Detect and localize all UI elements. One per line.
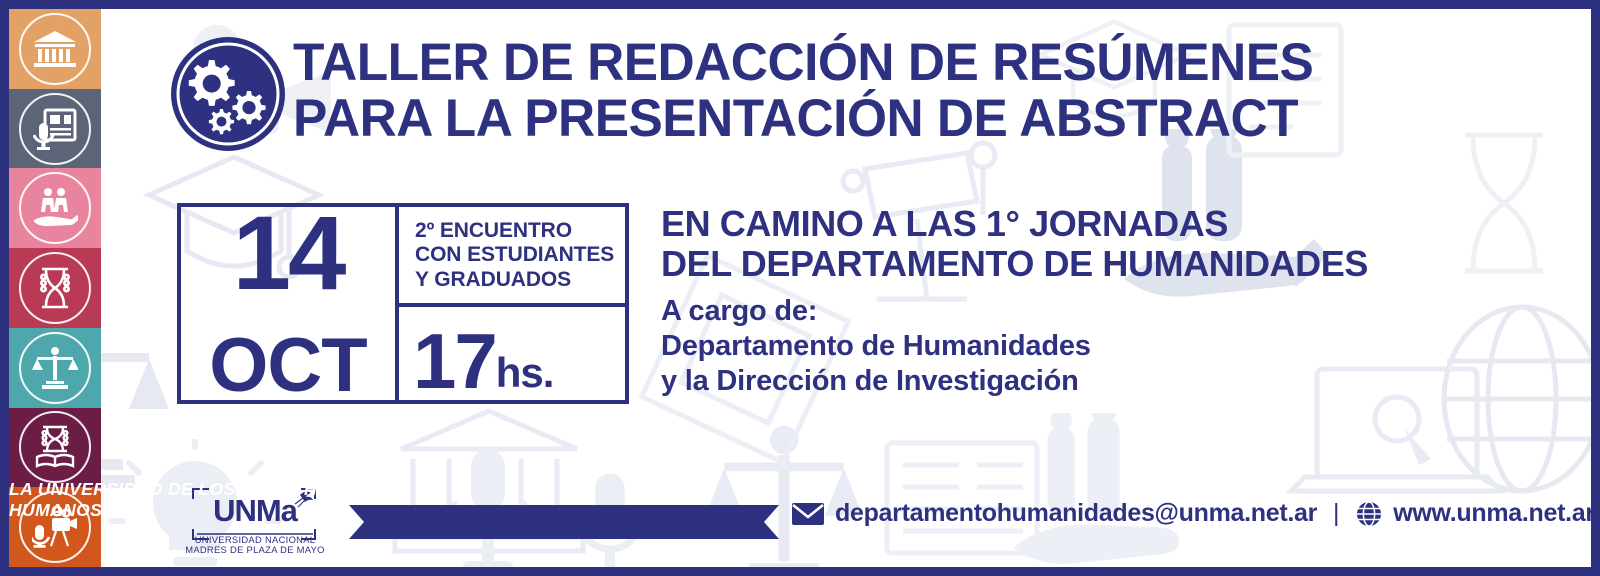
globe-icon <box>1355 500 1383 528</box>
rail-ring <box>19 252 91 324</box>
event-time-unit: hs. <box>496 352 554 398</box>
date-details: 2º ENCUENTRO CON ESTUDIANTES Y GRADUADOS… <box>399 207 625 400</box>
gears-logo <box>169 35 287 153</box>
footer-bar: UNMa UNIVERSIDAD NACIONAL MADRES DE PLAZ… <box>9 483 1591 559</box>
headline-1: EN CAMINO A LAS 1° JORNADAS <box>661 204 1368 244</box>
banner-canvas: TALLER DE REDACCIÓN DE RESÚMENES PARA LA… <box>9 9 1591 567</box>
title-line-2: PARA LA PRESENTACIÓN DE ABSTRACT <box>293 91 1313 147</box>
date-day-month: 14 OCT <box>181 207 399 400</box>
title-line-1: TALLER DE REDACCIÓN DE RESÚMENES <box>293 35 1313 91</box>
watermark-hourglass-icon <box>1429 119 1579 289</box>
rail-tile-social <box>9 168 101 248</box>
rail-ring <box>19 332 91 404</box>
scales-of-justice-icon <box>32 346 78 390</box>
contact-separator: | <box>1327 499 1345 528</box>
event-time: 17 hs. <box>399 307 625 400</box>
rail-tile-literature <box>9 408 101 488</box>
audience-line-2: CON ESTUDIANTES <box>415 243 625 267</box>
contact-block: departamentohumanidades@unma.net.ar | ww… <box>791 499 1591 528</box>
body-text-block: EN CAMINO A LAS 1° JORNADAS DEL DEPARTAM… <box>661 204 1368 400</box>
hourglass-icon <box>35 266 75 310</box>
event-month: OCT <box>181 326 395 406</box>
event-time-number: 17 <box>413 325 496 398</box>
audience-line-3: Y GRADUADOS <box>415 268 625 292</box>
rail-ring <box>19 13 91 85</box>
date-box: 14 OCT 2º ENCUENTRO CON ESTUDIANTES Y GR… <box>177 203 629 404</box>
title-block: TALLER DE REDACCIÓN DE RESÚMENES PARA LA… <box>293 35 1345 147</box>
audience-line-1: 2º ENCUENTRO <box>415 219 625 243</box>
banner-frame: TALLER DE REDACCIÓN DE RESÚMENES PARA LA… <box>0 0 1600 576</box>
classical-building-icon <box>32 29 78 69</box>
headline-2: DEL DEPARTAMENTO DE HUMANIDADES <box>661 244 1368 284</box>
svg-text:MADRES DE PLAZA DE MAYO: MADRES DE PLAZA DE MAYO <box>185 544 325 555</box>
people-in-hand-icon <box>32 187 78 229</box>
envelope-icon <box>791 502 825 526</box>
microphone-newspaper-icon <box>33 107 77 151</box>
rail-tile-institution <box>9 9 101 89</box>
rail-tile-history <box>9 248 101 328</box>
contact-email[interactable]: departamentohumanidades@unma.net.ar <box>835 499 1317 528</box>
rail-ring <box>19 172 91 244</box>
rail-ring <box>19 411 91 483</box>
watermark-globe-icon <box>1427 299 1591 499</box>
organizer-2: y la Dirección de Investigación <box>661 364 1368 399</box>
a-cargo-label: A cargo de: <box>661 294 1368 329</box>
slogan-text: LA UNIVERSIDAD DE LOS DERECHOS HUMANOS. <box>9 483 439 517</box>
rail-tile-justice <box>9 328 101 408</box>
rail-tile-communication <box>9 89 101 169</box>
contact-website[interactable]: www.unma.net.ar <box>1393 499 1591 528</box>
event-day: 14 <box>181 199 395 309</box>
audience-block: 2º ENCUENTRO CON ESTUDIANTES Y GRADUADOS <box>399 207 625 307</box>
organizer-1: Departamento de Humanidades <box>661 329 1368 364</box>
rail-ring <box>19 93 91 165</box>
hourglass-book-icon <box>34 425 76 469</box>
